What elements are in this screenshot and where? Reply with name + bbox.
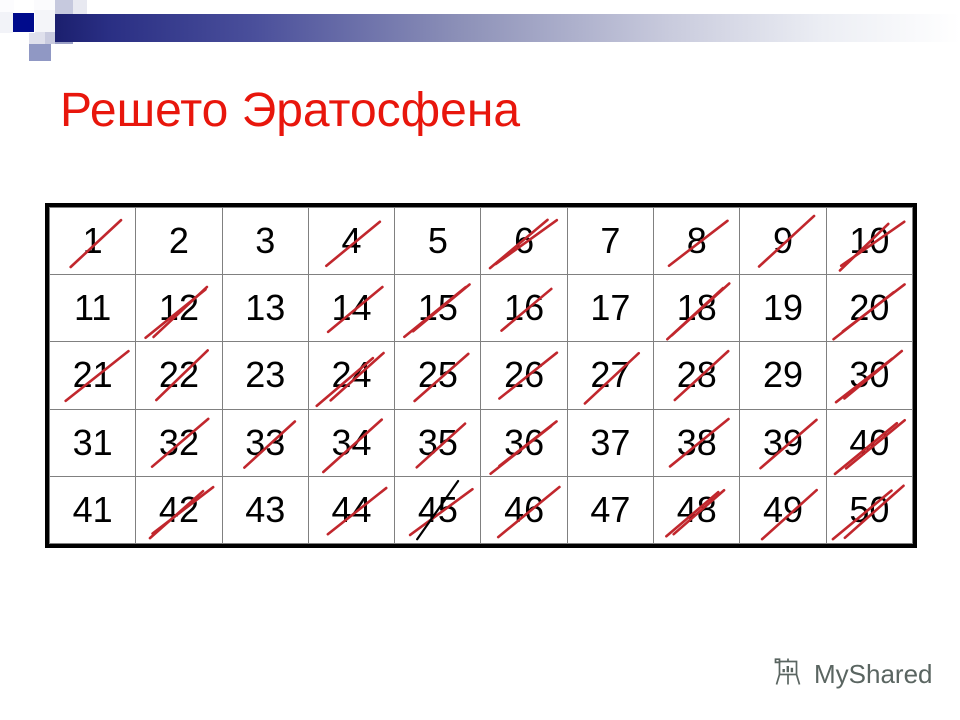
cell-number: 15: [418, 287, 458, 329]
sieve-cell-33[interactable]: 33: [222, 409, 308, 476]
decor-square-10: [29, 44, 51, 61]
sieve-cell-1[interactable]: 1: [50, 208, 136, 275]
sieve-cell-36[interactable]: 36: [481, 409, 567, 476]
sieve-cell-4[interactable]: 4: [308, 208, 394, 275]
sieve-cell-9[interactable]: 9: [740, 208, 826, 275]
sieve-cell-27[interactable]: 27: [567, 342, 653, 409]
sieve-cell-50[interactable]: 50: [826, 476, 912, 543]
cell-number: 25: [418, 354, 458, 396]
cell-number: 49: [763, 489, 803, 531]
cell-number: 40: [849, 422, 889, 464]
sieve-cell-16[interactable]: 16: [481, 275, 567, 342]
sieve-cell-42[interactable]: 42: [136, 476, 222, 543]
sieve-cell-3[interactable]: 3: [222, 208, 308, 275]
cell-number: 47: [590, 489, 630, 531]
sieve-cell-12[interactable]: 12: [136, 275, 222, 342]
sieve-cell-10[interactable]: 10: [826, 208, 912, 275]
table-row: 11121314151617181920: [50, 275, 913, 342]
sieve-cell-7[interactable]: 7: [567, 208, 653, 275]
cell-number: 1: [83, 220, 103, 262]
cell-number: 46: [504, 489, 544, 531]
cell-number: 11: [74, 287, 111, 329]
sieve-cell-41[interactable]: 41: [50, 476, 136, 543]
sieve-cell-32[interactable]: 32: [136, 409, 222, 476]
sieve-cell-11[interactable]: 11: [50, 275, 136, 342]
cell-number: 48: [677, 489, 717, 531]
cell-number: 9: [773, 220, 793, 262]
cell-number: 7: [600, 220, 620, 262]
sieve-cell-13[interactable]: 13: [222, 275, 308, 342]
sieve-cell-37[interactable]: 37: [567, 409, 653, 476]
sieve-table-body: 1234567891011121314151617181920212223242…: [50, 208, 913, 544]
cell-number: 26: [504, 354, 544, 396]
page-title: Решето Эратосфена: [60, 86, 520, 136]
cell-number: 38: [677, 422, 717, 464]
cell-number: 18: [677, 287, 717, 329]
sieve-cell-34[interactable]: 34: [308, 409, 394, 476]
cell-number: 10: [849, 220, 889, 262]
sieve-cell-29[interactable]: 29: [740, 342, 826, 409]
cell-number: 3: [255, 220, 275, 262]
sieve-cell-35[interactable]: 35: [395, 409, 481, 476]
decor-square-1: [0, 0, 14, 12]
cell-number: 17: [590, 287, 630, 329]
cell-number: 19: [763, 287, 803, 329]
cell-number: 4: [342, 220, 362, 262]
sieve-cell-18[interactable]: 18: [654, 275, 740, 342]
decor-square-accent: [13, 13, 34, 32]
sieve-cell-46[interactable]: 46: [481, 476, 567, 543]
sieve-cell-26[interactable]: 26: [481, 342, 567, 409]
table-row: 41424344454647484950: [50, 476, 913, 543]
cell-number: 29: [763, 354, 803, 396]
sieve-cell-6[interactable]: 6: [481, 208, 567, 275]
cell-number: 23: [245, 354, 285, 396]
cell-number: 45: [418, 489, 458, 531]
cell-number: 42: [159, 489, 199, 531]
sieve-cell-20[interactable]: 20: [826, 275, 912, 342]
header-gradient-bar: [55, 14, 960, 42]
header-decoration: [0, 0, 960, 60]
cell-number: 6: [514, 220, 534, 262]
sieve-cell-21[interactable]: 21: [50, 342, 136, 409]
decor-square-2: [0, 12, 14, 33]
sieve-cell-31[interactable]: 31: [50, 409, 136, 476]
cell-number: 16: [504, 287, 544, 329]
table-row: 21222324252627282930: [50, 342, 913, 409]
cell-number: 32: [159, 422, 199, 464]
sieve-cell-8[interactable]: 8: [654, 208, 740, 275]
cell-number: 14: [332, 287, 372, 329]
sieve-table-container: 1234567891011121314151617181920212223242…: [45, 203, 917, 548]
sieve-table: 1234567891011121314151617181920212223242…: [49, 207, 913, 544]
sieve-cell-5[interactable]: 5: [395, 208, 481, 275]
cell-number: 5: [428, 220, 448, 262]
decor-square-4: [34, 10, 56, 32]
sieve-cell-23[interactable]: 23: [222, 342, 308, 409]
sieve-cell-30[interactable]: 30: [826, 342, 912, 409]
cell-number: 37: [590, 422, 630, 464]
sieve-cell-45[interactable]: 45: [395, 476, 481, 543]
sieve-cell-22[interactable]: 22: [136, 342, 222, 409]
sieve-cell-17[interactable]: 17: [567, 275, 653, 342]
sieve-cell-40[interactable]: 40: [826, 409, 912, 476]
decor-square-6: [73, 0, 87, 14]
sieve-cell-43[interactable]: 43: [222, 476, 308, 543]
cell-number: 31: [73, 422, 113, 464]
sieve-cell-14[interactable]: 14: [308, 275, 394, 342]
table-row: 31323334353637383940: [50, 409, 913, 476]
cell-number: 35: [418, 422, 458, 464]
cell-number: 21: [73, 354, 113, 396]
cell-number: 34: [332, 422, 372, 464]
cell-number: 27: [590, 354, 630, 396]
sieve-cell-48[interactable]: 48: [654, 476, 740, 543]
cell-number: 30: [849, 354, 889, 396]
sieve-cell-15[interactable]: 15: [395, 275, 481, 342]
cell-number: 50: [849, 489, 889, 531]
cell-number: 12: [159, 287, 199, 329]
cell-number: 36: [504, 422, 544, 464]
cell-number: 24: [332, 354, 372, 396]
decor-square-7: [29, 32, 46, 44]
sieve-cell-44[interactable]: 44: [308, 476, 394, 543]
watermark-label: MyShared: [814, 659, 933, 690]
cell-number: 41: [73, 489, 113, 531]
cell-number: 33: [245, 422, 285, 464]
cell-number: 39: [763, 422, 803, 464]
sieve-cell-2[interactable]: 2: [136, 208, 222, 275]
cell-number: 8: [687, 220, 707, 262]
sieve-cell-24[interactable]: 24: [308, 342, 394, 409]
sieve-cell-49[interactable]: 49: [740, 476, 826, 543]
cell-number: 43: [245, 489, 285, 531]
watermark: MyShared: [772, 655, 933, 694]
table-row: 12345678910: [50, 208, 913, 275]
cell-number: 2: [169, 220, 189, 262]
presentation-board-icon: [772, 655, 806, 694]
sieve-cell-47[interactable]: 47: [567, 476, 653, 543]
sieve-cell-28[interactable]: 28: [654, 342, 740, 409]
sieve-cell-38[interactable]: 38: [654, 409, 740, 476]
sieve-cell-25[interactable]: 25: [395, 342, 481, 409]
cell-number: 20: [849, 287, 889, 329]
cell-number: 28: [677, 354, 717, 396]
cell-number: 22: [159, 354, 199, 396]
sieve-cell-39[interactable]: 39: [740, 409, 826, 476]
sieve-cell-19[interactable]: 19: [740, 275, 826, 342]
cell-number: 13: [245, 287, 285, 329]
cell-number: 44: [332, 489, 372, 531]
